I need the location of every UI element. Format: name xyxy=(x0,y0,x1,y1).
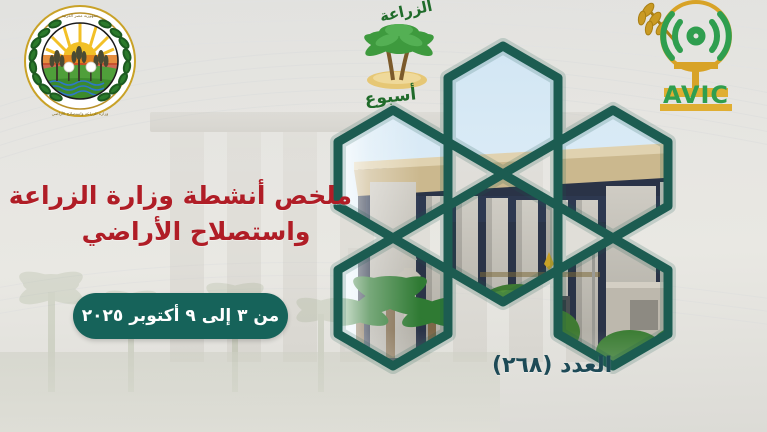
issue-number-label: العدد (٢٦٨) xyxy=(492,353,612,378)
banner-canvas: جمهورية مصر العربية وزارة الزراعة واستصل… xyxy=(0,0,767,432)
ministry-emblem-icon: جمهورية مصر العربية وزارة الزراعة واستصل… xyxy=(20,3,140,121)
svg-text:أسبوع: أسبوع xyxy=(363,82,417,108)
svg-text:جمهورية مصر العربية: جمهورية مصر العربية xyxy=(62,13,99,18)
avic-logo-icon: AVIC xyxy=(630,0,755,115)
svg-text:وزارة الزراعة واستصلاح الأراضي: وزارة الزراعة واستصلاح الأراضي xyxy=(52,111,109,116)
svg-text:الزراعة: الزراعة xyxy=(378,0,434,25)
svg-text:AVIC: AVIC xyxy=(663,81,729,109)
agriculture-week-palm-icon: الزراعة أسبوع xyxy=(333,0,461,108)
page-title: ملخص أنشطة وزارة الزراعة واستصلاح الأراض… xyxy=(40,178,352,249)
title-line-2: واستصلاح الأراضي xyxy=(40,214,352,250)
title-line-1: ملخص أنشطة وزارة الزراعة xyxy=(40,178,352,214)
date-range-badge: من ٣ إلى ٩ أكتوبر ٢٠٢٥ xyxy=(73,293,288,339)
